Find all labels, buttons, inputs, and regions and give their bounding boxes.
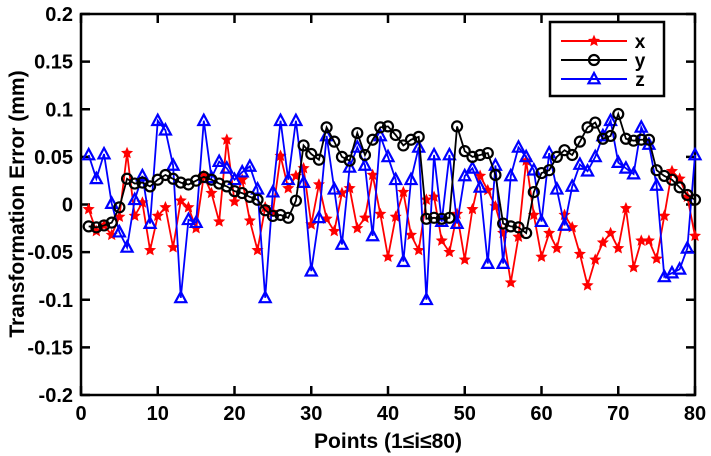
x-tick-label: 80 [684, 403, 706, 425]
x-tick-label: 70 [607, 403, 629, 425]
chart-legend[interactable]: xyz [550, 22, 664, 96]
x-tick-label: 50 [454, 403, 476, 425]
x-tick-label: 20 [223, 403, 245, 425]
y-tick-label: 0 [62, 195, 73, 217]
y-tick-label: 0.05 [34, 147, 73, 169]
y-axis-title: Transformation Error (mm) [6, 70, 29, 337]
legend-label-x: x [635, 32, 646, 53]
x-tick-label: 60 [530, 403, 552, 425]
legend-label-z: z [635, 70, 645, 91]
y-tick-label: -0.2 [39, 385, 73, 407]
x-tick-label: 30 [300, 403, 322, 425]
transformation-error-chart: -0.2-0.15-0.1-0.0500.050.10.150.2 010203… [0, 0, 711, 456]
y-tick-label: 0.1 [45, 99, 73, 121]
y-tick-label: 0.15 [34, 52, 73, 74]
y-tick-label: 0.2 [45, 4, 73, 26]
legend-label-y: y [635, 51, 646, 72]
y-tick-label: -0.05 [27, 242, 73, 264]
x-tick-label: 10 [147, 403, 169, 425]
x-tick-label: 0 [75, 403, 86, 425]
y-tick-label: -0.15 [27, 337, 73, 359]
x-axis-title: Points (1≤i≤80) [314, 430, 462, 453]
x-tick-label: 40 [377, 403, 399, 425]
y-tick-label: -0.1 [39, 290, 73, 312]
